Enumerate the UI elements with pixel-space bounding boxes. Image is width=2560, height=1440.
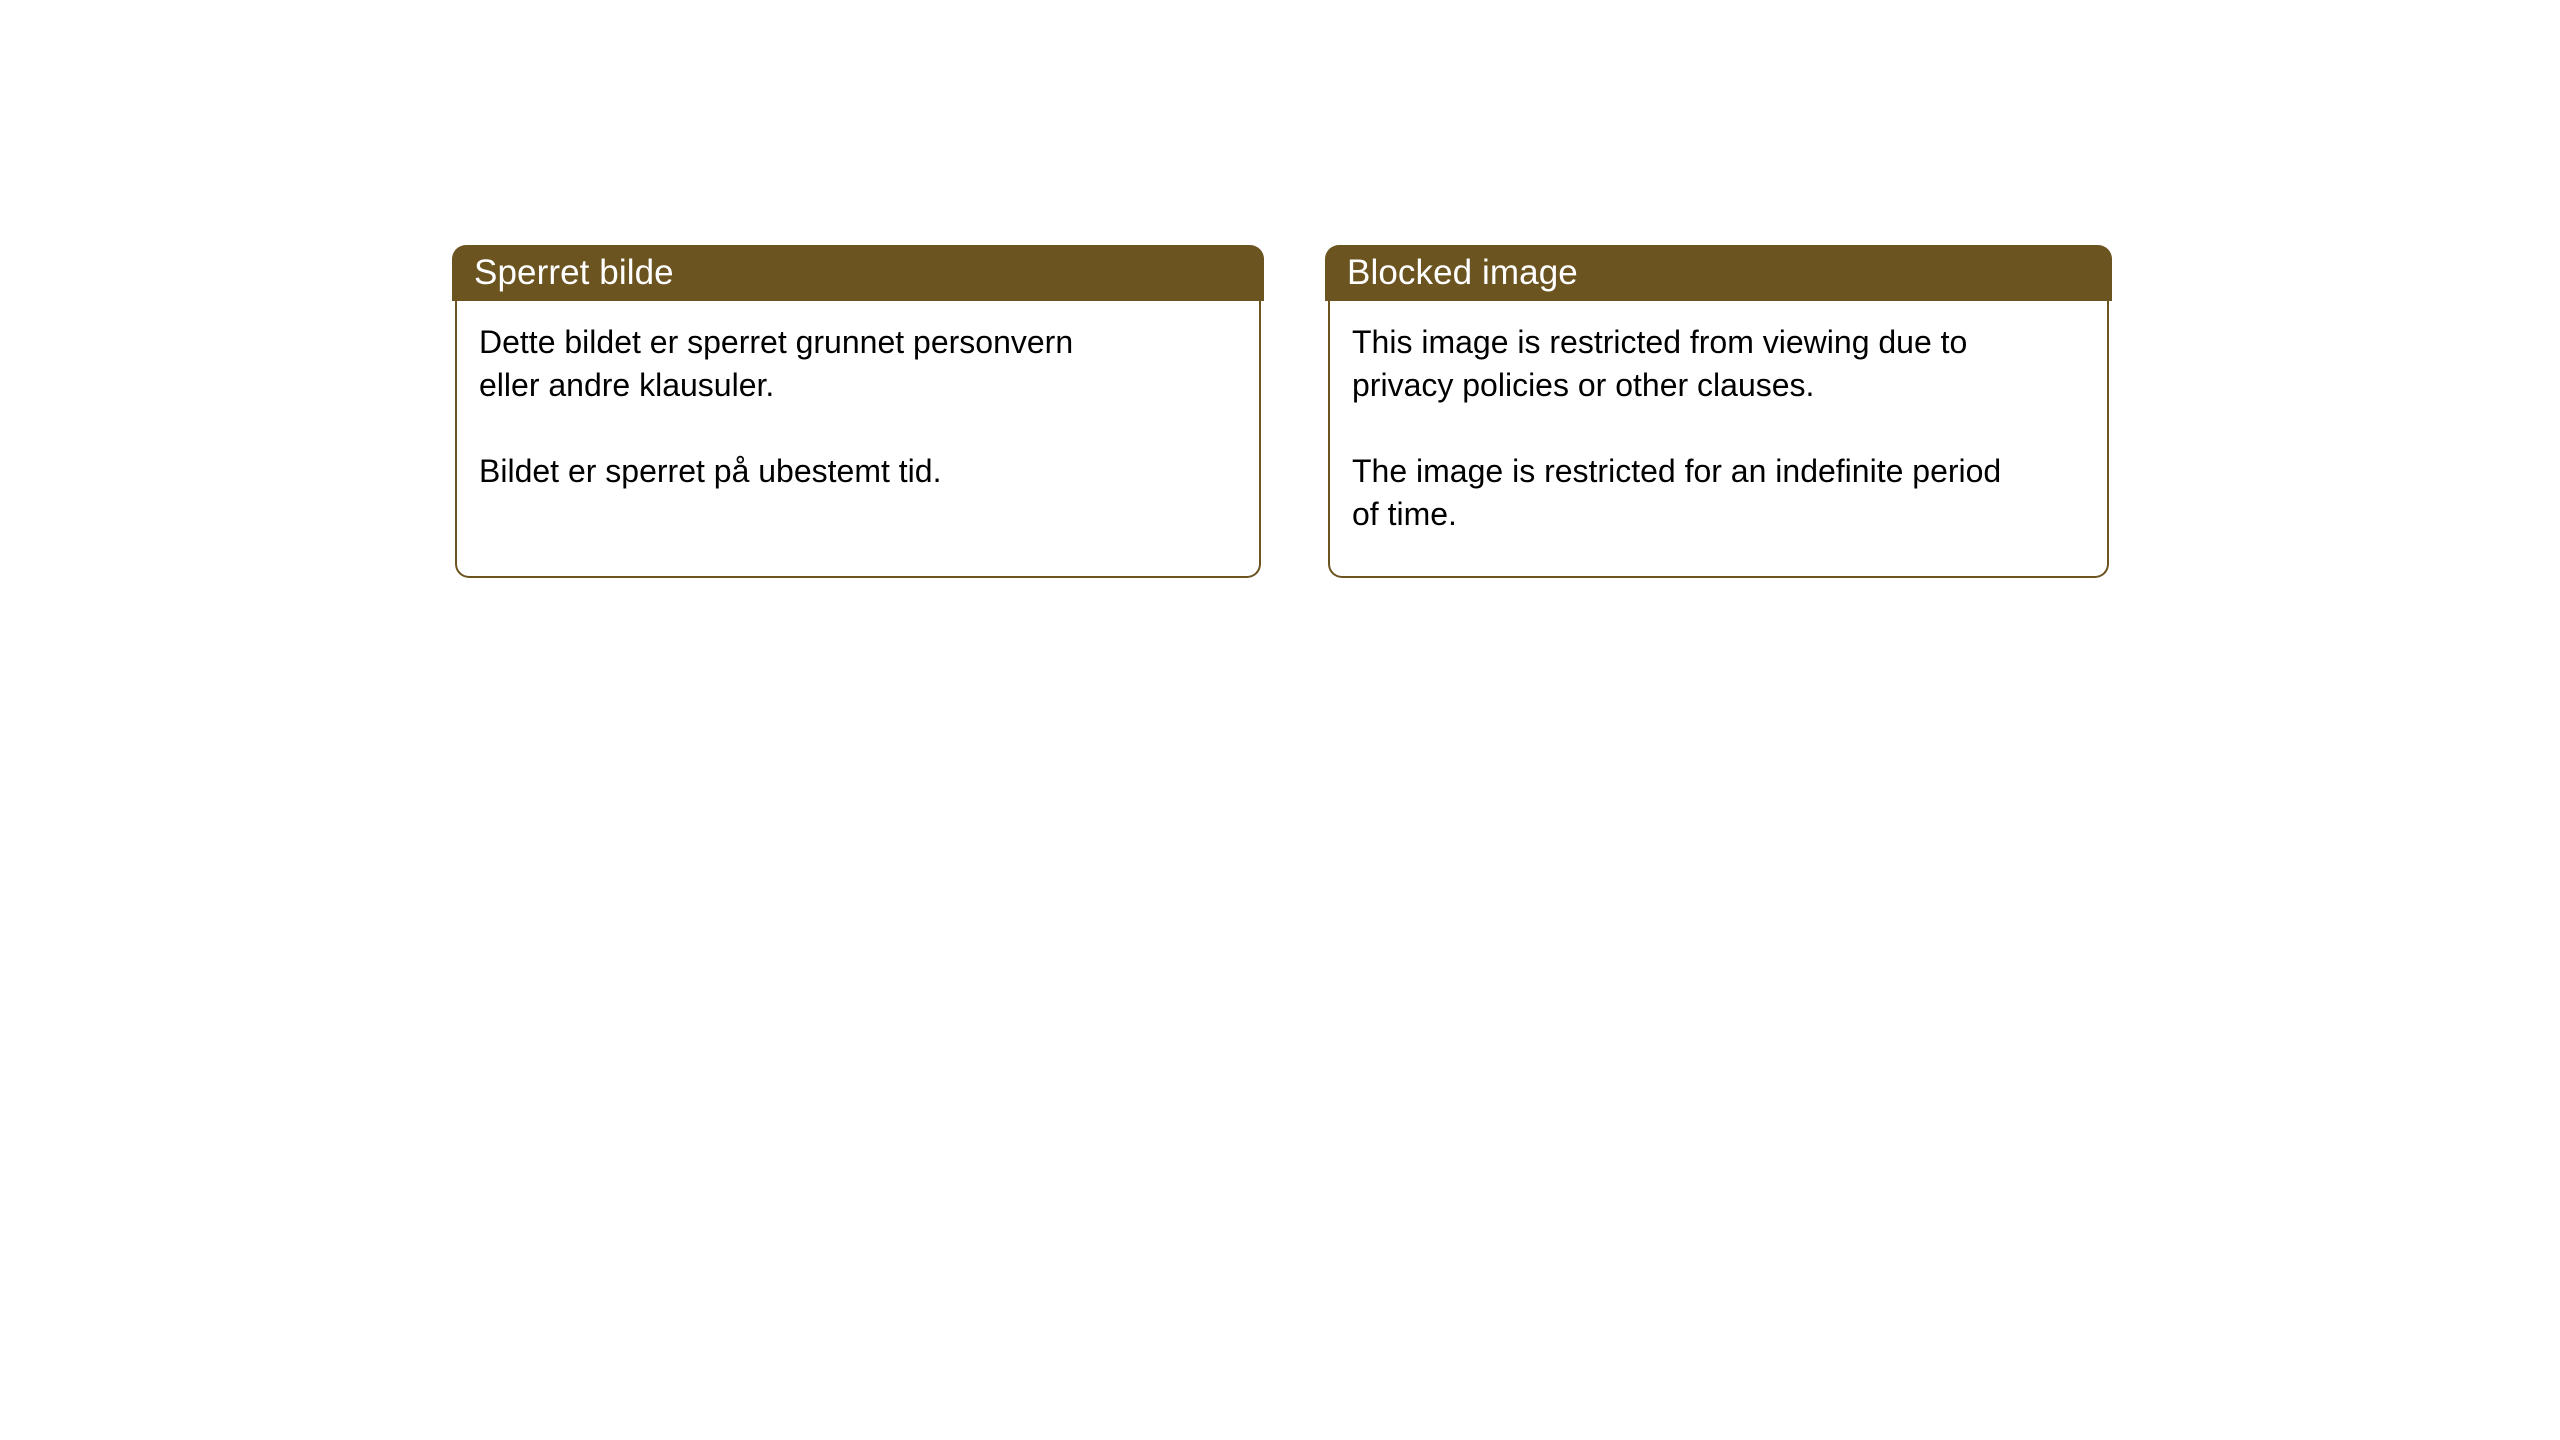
card-paragraph-duration-english: The image is restricted for an indefinit… xyxy=(1352,450,2085,536)
card-body-norwegian: Dette bildet er sperret grunnet personve… xyxy=(455,301,1261,578)
blocked-image-card-norwegian: Sperret bilde Dette bildet er sperret gr… xyxy=(452,245,1264,578)
card-paragraph-reason-english: This image is restricted from viewing du… xyxy=(1352,321,2085,407)
card-header-english: Blocked image xyxy=(1325,245,2112,301)
card-paragraph-duration-norwegian: Bildet er sperret på ubestemt tid. xyxy=(479,450,1237,493)
page-canvas: Sperret bilde Dette bildet er sperret gr… xyxy=(0,0,2560,1440)
card-title-english: Blocked image xyxy=(1347,253,1578,293)
card-paragraph-reason-norwegian: Dette bildet er sperret grunnet personve… xyxy=(479,321,1237,407)
card-title-norwegian: Sperret bilde xyxy=(474,253,674,293)
blocked-image-card-english: Blocked image This image is restricted f… xyxy=(1325,245,2112,578)
card-header-norwegian: Sperret bilde xyxy=(452,245,1264,301)
card-body-english: This image is restricted from viewing du… xyxy=(1328,301,2109,578)
